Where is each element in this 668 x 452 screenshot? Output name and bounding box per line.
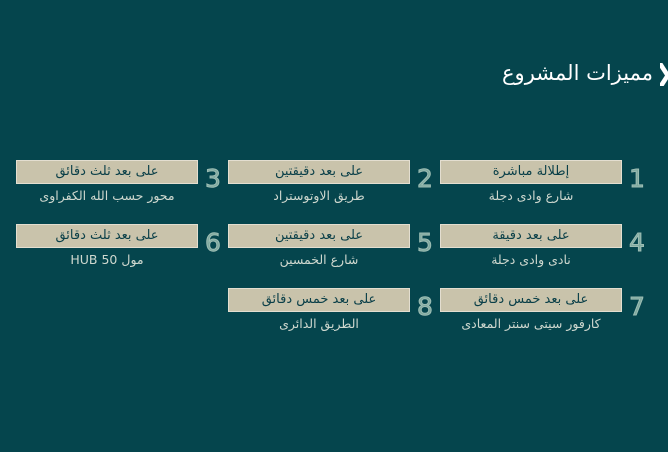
feature-number: 7 <box>622 288 652 322</box>
feature-subtitle: شارع الخمسين <box>228 251 410 268</box>
feature-pill-label: على بعد دقيقة <box>440 224 622 248</box>
feature-pill-label: على بعد ثلث دقائق <box>16 160 198 184</box>
feature-card-4[interactable]: 4 على بعد دقيقة نادى وادى دجلة <box>440 224 652 268</box>
feature-number: 4 <box>622 224 652 258</box>
feature-card-6[interactable]: 6 على بعد ثلث دقائق مول HUB 50 <box>16 224 228 268</box>
feature-pill-label: على بعد دقيقتين <box>228 224 410 248</box>
feature-pill-label: على بعد ثلث دقائق <box>16 224 198 248</box>
feature-number: 3 <box>198 160 228 194</box>
feature-subtitle: محور حسب الله الكفراوى <box>16 187 198 204</box>
feature-body: على بعد ثلث دقائق محور حسب الله الكفراوى <box>16 160 198 204</box>
features-row: 7 على بعد خمس دقائق كارفور سيتى سنتر الم… <box>0 288 668 332</box>
slide-header: ❮ مميزات المشروع <box>0 56 668 90</box>
feature-card-3[interactable]: 3 على بعد ثلث دقائق محور حسب الله الكفرا… <box>16 160 228 204</box>
page-title: مميزات المشروع <box>502 60 653 86</box>
feature-body: على بعد دقيقة نادى وادى دجلة <box>440 224 622 268</box>
feature-card-5[interactable]: 5 على بعد دقيقتين شارع الخمسين <box>228 224 440 268</box>
feature-body: على بعد ثلث دقائق مول HUB 50 <box>16 224 198 268</box>
features-grid: 1 إطلالة مباشرة شارع وادى دجلة 2 على بعد… <box>0 160 668 332</box>
feature-pill-label: إطلالة مباشرة <box>440 160 622 184</box>
feature-subtitle: كارفور سيتى سنتر المعادى <box>440 315 622 332</box>
feature-number: 5 <box>410 224 440 258</box>
feature-number: 2 <box>410 160 440 194</box>
features-row: 4 على بعد دقيقة نادى وادى دجلة 5 على بعد… <box>0 224 668 268</box>
feature-number: 8 <box>410 288 440 322</box>
feature-body: على بعد خمس دقائق الطريق الدائرى <box>228 288 410 332</box>
feature-pill-label: على بعد خمس دقائق <box>228 288 410 312</box>
slide-root: ❮ مميزات المشروع 1 إطلالة مباشرة شارع وا… <box>0 0 668 452</box>
feature-body: على بعد خمس دقائق كارفور سيتى سنتر المعا… <box>440 288 622 332</box>
feature-subtitle: الطريق الدائرى <box>228 315 410 332</box>
feature-body: على بعد دقيقتين طريق الاوتوستراد <box>228 160 410 204</box>
feature-pill-label: على بعد دقيقتين <box>228 160 410 184</box>
feature-card-2[interactable]: 2 على بعد دقيقتين طريق الاوتوستراد <box>228 160 440 204</box>
feature-subtitle: نادى وادى دجلة <box>440 251 622 268</box>
feature-body: على بعد دقيقتين شارع الخمسين <box>228 224 410 268</box>
chevron-left-icon: ❮ <box>660 61 668 86</box>
feature-body: إطلالة مباشرة شارع وادى دجلة <box>440 160 622 204</box>
feature-card-7[interactable]: 7 على بعد خمس دقائق كارفور سيتى سنتر الم… <box>440 288 652 332</box>
feature-pill-label: على بعد خمس دقائق <box>440 288 622 312</box>
feature-card-8[interactable]: 8 على بعد خمس دقائق الطريق الدائرى <box>228 288 440 332</box>
feature-number: 6 <box>198 224 228 258</box>
features-row: 1 إطلالة مباشرة شارع وادى دجلة 2 على بعد… <box>0 160 668 204</box>
feature-subtitle: طريق الاوتوستراد <box>228 187 410 204</box>
feature-card-1[interactable]: 1 إطلالة مباشرة شارع وادى دجلة <box>440 160 652 204</box>
feature-subtitle: شارع وادى دجلة <box>440 187 622 204</box>
feature-number: 1 <box>622 160 652 194</box>
feature-subtitle: مول HUB 50 <box>16 251 198 268</box>
